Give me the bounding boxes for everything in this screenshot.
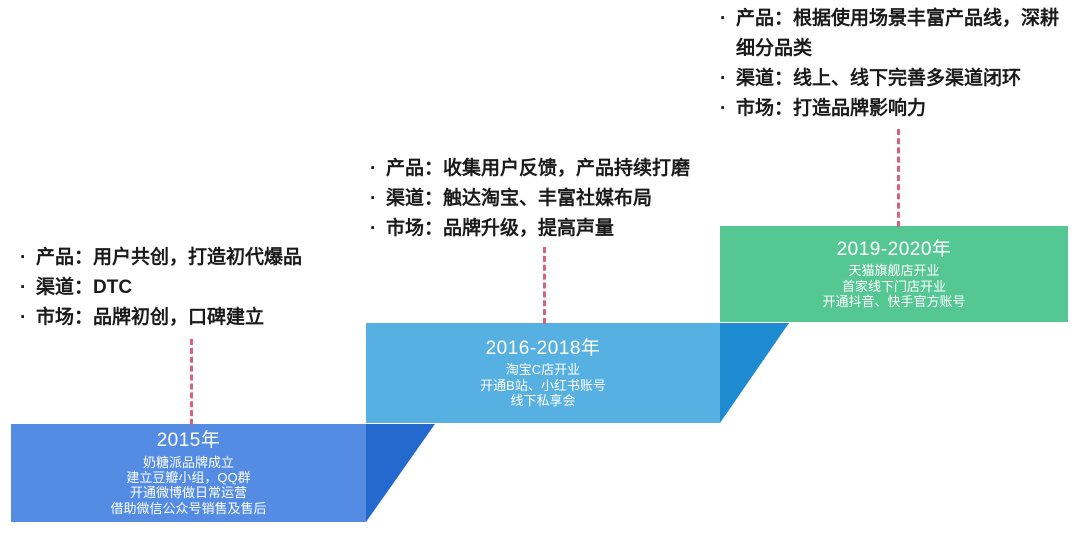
- dashed-connector-2019: [897, 129, 900, 227]
- timeline-diagram: 2015年 奶糖派品牌成立 建立豆瓣小组，QQ群 开通微博做日常运营 借助微信公…: [0, 0, 1080, 534]
- step-2019-year: 2019-2020年: [837, 239, 952, 261]
- dashed-connector-2016: [543, 247, 546, 324]
- step-2015-year: 2015年: [157, 430, 221, 452]
- fold-triangle-2016: [720, 323, 789, 423]
- timeline-step-2016-2018[interactable]: 2016-2018年 淘宝C店开业 开通B站、小红书账号 线下私享会: [366, 323, 720, 423]
- timeline-step-2015[interactable]: 2015年 奶糖派品牌成立 建立豆瓣小组，QQ群 开通微博做日常运营 借助微信公…: [11, 424, 366, 522]
- step-2016-line-2: 开通B站、小红书账号: [480, 378, 606, 393]
- step-2016-line-3: 线下私享会: [510, 393, 575, 408]
- timeline-step-2019-2020[interactable]: 2019-2020年 天猫旗舰店开业 首家线下门店开业 开通抖音、快手官方账号: [720, 226, 1068, 322]
- step-2016-year: 2016-2018年: [486, 338, 601, 360]
- fold-triangle-2015: [366, 424, 435, 522]
- step-2019-line-2: 首家线下门店开业: [842, 279, 946, 294]
- step-2015-line-3: 开通微博做日常运营: [130, 485, 247, 500]
- step-2015-line-2: 建立豆瓣小组，QQ群: [126, 470, 250, 485]
- step-2015-line-4: 借助微信公众号销售及售后: [110, 501, 266, 516]
- step-2016-line-1: 淘宝C店开业: [506, 362, 580, 377]
- step-2019-line-3: 开通抖音、快手官方账号: [822, 294, 965, 309]
- dashed-connector-2015: [190, 339, 193, 425]
- step-2019-line-1: 天猫旗舰店开业: [848, 263, 939, 278]
- step-2015-line-1: 奶糖派品牌成立: [143, 455, 234, 470]
